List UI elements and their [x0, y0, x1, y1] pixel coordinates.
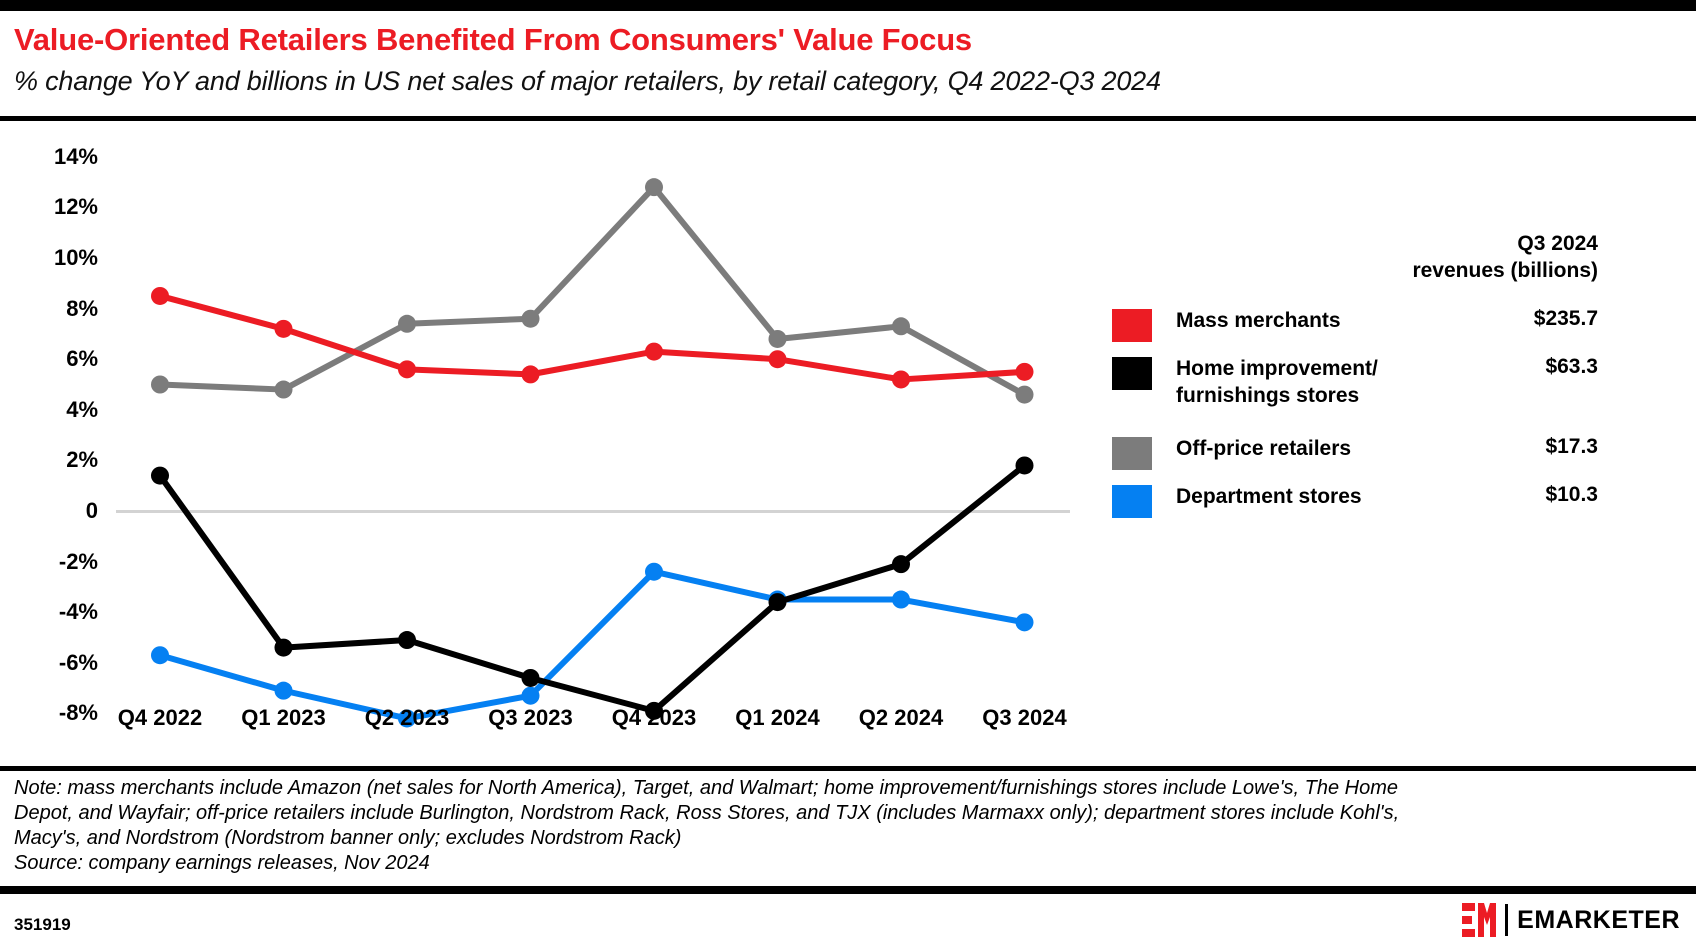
- footer-divider-rule: [0, 886, 1696, 894]
- x-axis-tick-label: Q3 2024: [982, 705, 1066, 731]
- data-point-marker: [769, 350, 787, 368]
- chart-subtitle: % change YoY and billions in US net sale…: [14, 66, 1161, 97]
- brand-lockup: EMARKETER: [1462, 903, 1680, 937]
- data-point-marker: [892, 370, 910, 388]
- data-point-marker: [151, 467, 169, 485]
- brand-name: EMARKETER: [1517, 906, 1680, 935]
- data-point-marker: [645, 343, 663, 361]
- brand-divider: [1505, 904, 1508, 936]
- source-line: Source: company earnings releases, Nov 2…: [14, 851, 1674, 876]
- data-point-marker: [398, 360, 416, 378]
- chart-id: 351919: [14, 915, 71, 935]
- legend-label: Department stores: [1176, 483, 1506, 510]
- legend-value: $10.3: [1545, 483, 1598, 507]
- legend-row[interactable]: Home improvement/furnishings stores$63.3: [1112, 355, 1682, 403]
- note-line-2: Depot, and Wayfair; off-price retailers …: [14, 801, 1674, 826]
- data-point-marker: [892, 317, 910, 335]
- top-rule: [0, 0, 1696, 11]
- series-line: [160, 296, 1025, 379]
- x-axis-tick-label: Q3 2023: [488, 705, 572, 731]
- chart-title: Value-Oriented Retailers Benefited From …: [14, 22, 972, 58]
- data-point-marker: [151, 287, 169, 305]
- data-point-marker: [892, 591, 910, 609]
- legend-label: Home improvement/furnishings stores: [1176, 355, 1506, 409]
- data-point-marker: [275, 381, 293, 399]
- legend-swatch-gray-icon: [1112, 437, 1152, 470]
- x-axis-tick-label: Q4 2023: [612, 705, 696, 731]
- x-axis-tick-label: Q2 2024: [859, 705, 943, 731]
- note-divider-rule: [0, 766, 1696, 771]
- legend-row[interactable]: Off-price retailers$17.3: [1112, 435, 1682, 483]
- data-point-marker: [275, 682, 293, 700]
- note-block: Note: mass merchants include Amazon (net…: [14, 776, 1674, 876]
- data-point-marker: [1016, 456, 1034, 474]
- legend-row[interactable]: Mass merchants$235.7: [1112, 307, 1682, 355]
- legend-value: $17.3: [1545, 435, 1598, 459]
- data-point-marker: [275, 639, 293, 657]
- x-axis-tick-label: Q2 2023: [365, 705, 449, 731]
- data-point-marker: [522, 687, 540, 705]
- x-axis-tick-label: Q4 2022: [118, 705, 202, 731]
- data-point-marker: [1016, 363, 1034, 381]
- legend-value: $235.7: [1534, 307, 1598, 331]
- data-point-marker: [1016, 613, 1034, 631]
- data-point-marker: [522, 669, 540, 687]
- legend-row[interactable]: Department stores$10.3: [1112, 483, 1682, 531]
- legend-label: Mass merchants: [1176, 307, 1506, 334]
- data-point-marker: [769, 593, 787, 611]
- data-point-marker: [769, 330, 787, 348]
- data-point-marker: [892, 555, 910, 573]
- legend-heading: Q3 2024 revenues (billions): [1412, 230, 1598, 284]
- data-point-marker: [398, 315, 416, 333]
- note-line-1: Note: mass merchants include Amazon (net…: [14, 776, 1674, 801]
- data-point-marker: [645, 563, 663, 581]
- legend-value: $63.3: [1545, 355, 1598, 379]
- data-point-marker: [522, 310, 540, 328]
- legend-label: Off-price retailers: [1176, 435, 1506, 462]
- note-line-3: Macy's, and Nordstrom (Nordstrom banner …: [14, 826, 1674, 851]
- legend-swatch-black-icon: [1112, 357, 1152, 390]
- data-point-marker: [522, 365, 540, 383]
- x-axis-tick-label: Q1 2023: [241, 705, 325, 731]
- legend-swatch-red-icon: [1112, 309, 1152, 342]
- data-point-marker: [275, 320, 293, 338]
- data-point-marker: [151, 376, 169, 394]
- chart-page: Value-Oriented Retailers Benefited From …: [0, 0, 1696, 944]
- data-point-marker: [645, 178, 663, 196]
- series-line: [160, 465, 1025, 710]
- data-point-marker: [1016, 386, 1034, 404]
- emarketer-logo-icon: [1462, 903, 1496, 937]
- legend-swatch-blue-icon: [1112, 485, 1152, 518]
- data-point-marker: [151, 646, 169, 664]
- x-axis-tick-label: Q1 2024: [735, 705, 819, 731]
- data-point-marker: [398, 631, 416, 649]
